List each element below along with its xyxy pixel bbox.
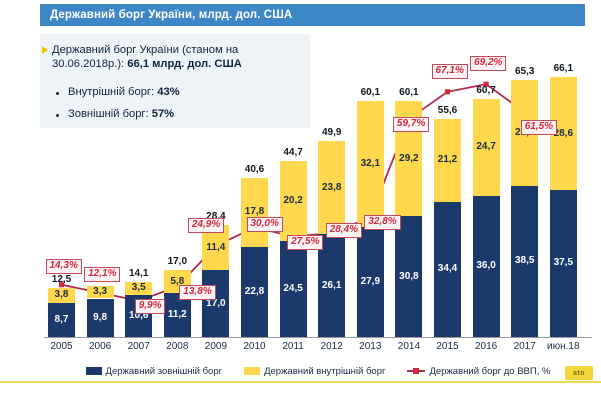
x-axis-line <box>44 337 592 338</box>
x-axis-label-2012: 2012 <box>311 341 352 352</box>
value-label-external-2017: 38,5 <box>507 255 542 266</box>
chart-plot-area: 8,73,812,520059,83,313,1200610,63,514,12… <box>0 0 601 401</box>
value-label-total-2010: 40,6 <box>235 164 274 175</box>
x-axis-label-2008: 2008 <box>157 341 198 352</box>
x-axis-label-2015: 2015 <box>427 341 468 352</box>
value-label-external-2016: 36,0 <box>469 260 504 271</box>
legend-item-ratio: Державний борг до ВВП, % <box>407 366 550 377</box>
value-label-external-2012: 26,1 <box>314 280 349 291</box>
pct-label-2013: 32,8% <box>364 215 400 230</box>
value-label-total-2016: 60,7 <box>467 85 506 96</box>
pct-label-2016: 69,2% <box>470 56 506 71</box>
value-label-external-2015: 34,4 <box>430 263 465 274</box>
pct-label-2015: 67,1% <box>432 64 468 79</box>
pct-label-2008: 13,8% <box>179 285 215 300</box>
chart-legend: Державний зовнішній борг Державний внутр… <box>44 362 592 380</box>
pct-label-2007: 9,9% <box>135 299 166 314</box>
value-label-total-2005: 12,5 <box>42 274 81 285</box>
pct-label-2005: 14,3% <box>46 259 82 274</box>
pct-label-2010: 30,0% <box>247 217 283 232</box>
x-axis-label-2011: 2011 <box>273 341 314 352</box>
x-axis-label-2014: 2014 <box>388 341 429 352</box>
value-label-total-2008: 17,0 <box>158 256 197 267</box>
legend-label-ratio: Державний борг до ВВП, % <box>429 366 550 377</box>
value-label-internal-2011: 20,2 <box>276 195 311 206</box>
value-label-external-2011: 24,5 <box>276 283 311 294</box>
value-label-total-2013: 60,1 <box>351 87 390 98</box>
pct-label-2017: 61,5% <box>521 120 557 135</box>
x-axis-label-2009: 2009 <box>195 341 236 352</box>
x-axis-label-2006: 2006 <box>80 341 121 352</box>
legend-swatch-internal-icon <box>244 367 260 375</box>
value-label-total-2014: 60,1 <box>389 87 428 98</box>
legend-swatch-external-icon <box>86 367 102 375</box>
value-label-internal-2014: 29,2 <box>391 153 426 164</box>
value-label-internal-2006: 3,3 <box>83 286 118 297</box>
value-label-total-июн.18: 66,1 <box>544 63 583 74</box>
pct-label-2014: 59,7% <box>393 117 429 132</box>
legend-swatch-line-icon <box>407 367 425 375</box>
x-axis-label-2005: 2005 <box>41 341 82 352</box>
value-label-external-июн.18: 37,5 <box>546 257 581 268</box>
legend-item-external: Державний зовнішній борг <box>86 366 223 377</box>
x-axis-label-2010: 2010 <box>234 341 275 352</box>
legend-label-external: Державний зовнішній борг <box>106 366 223 377</box>
value-label-internal-2013: 32,1 <box>353 158 388 169</box>
pct-label-2009: 24,9% <box>188 218 224 233</box>
value-label-internal-2007: 3,5 <box>121 282 156 293</box>
value-label-internal-2005: 3,8 <box>44 289 79 300</box>
x-axis-label-2013: 2013 <box>350 341 391 352</box>
x-axis-label-2017: 2017 <box>504 341 545 352</box>
value-label-internal-2010: 17,8 <box>237 206 272 217</box>
footer-divider <box>0 381 601 383</box>
value-label-external-2005: 8,7 <box>44 314 79 325</box>
value-label-internal-2012: 23,8 <box>314 182 349 193</box>
x-axis-label-2016: 2016 <box>466 341 507 352</box>
value-label-internal-2015: 21,2 <box>430 154 465 165</box>
x-axis-label-июн.18: июн.18 <box>543 341 584 352</box>
value-label-external-2010: 22,8 <box>237 286 272 297</box>
pct-label-2012: 28,4% <box>326 223 362 238</box>
value-label-internal-2009: 11,4 <box>198 242 233 253</box>
value-label-external-2014: 30,8 <box>391 271 426 282</box>
legend-item-internal: Державний внутрішній борг <box>244 366 385 377</box>
pct-label-2011: 27,5% <box>287 235 323 250</box>
site-logo: ato <box>565 366 593 380</box>
value-label-total-2015: 55,6 <box>428 105 467 116</box>
value-label-total-2017: 65,3 <box>505 66 544 77</box>
value-label-total-2007: 14,1 <box>119 268 158 279</box>
value-label-internal-2016: 24,7 <box>469 141 504 152</box>
legend-label-internal: Державний внутрішній борг <box>264 366 385 377</box>
value-label-external-2013: 27,9 <box>353 276 388 287</box>
value-label-external-2006: 9,8 <box>83 312 118 323</box>
x-axis-label-2007: 2007 <box>118 341 159 352</box>
slide-root: Державний борг України, млрд. дол. США Д… <box>0 0 601 401</box>
value-label-total-2012: 49,9 <box>312 127 351 138</box>
value-label-total-2011: 44,7 <box>274 147 313 158</box>
pct-label-2006: 12,1% <box>84 267 120 282</box>
